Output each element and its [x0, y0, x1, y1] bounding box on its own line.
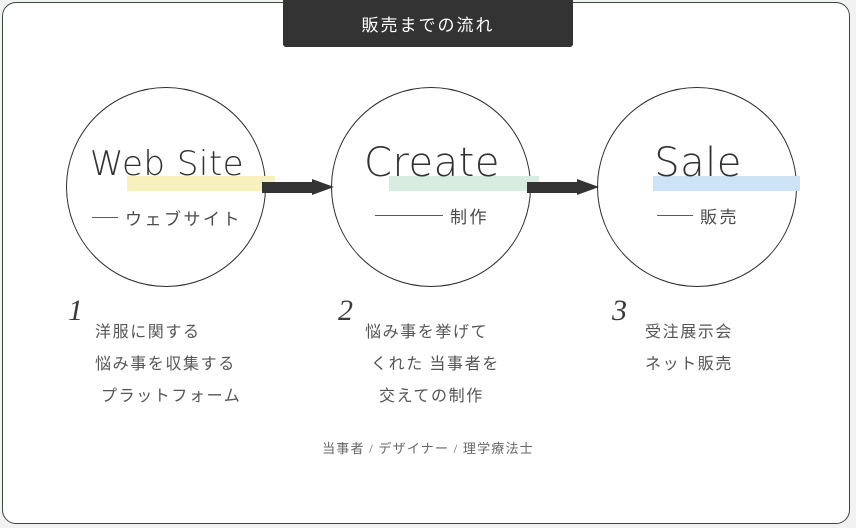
step-circle-create-content: Create 制作 [332, 88, 532, 288]
step-subtitle-row-create: 制作 [332, 203, 532, 228]
step-text-line: プラットフォーム [95, 381, 295, 413]
arrow-right-icon [262, 179, 334, 195]
step-number-3: 3 [612, 296, 627, 326]
footer-roles-text: 当事者 / デザイナー / 理学療法士 [322, 441, 534, 456]
step-circle-sale: Sale 販売 [597, 87, 797, 287]
step-text-line: 悩み事を収集する [95, 349, 295, 381]
dash-line-icon [657, 215, 693, 216]
step-text-lines-3: 受注展示会 ネット販売 [639, 317, 839, 381]
step-subtitle-row-sale: 販売 [598, 203, 798, 228]
step-text-lines-2: 悩み事を挙げて くれた 当事者を 交えての制作 [365, 317, 565, 413]
arrow-shaft [527, 182, 579, 193]
step-subtitle-sale: 販売 [700, 203, 739, 228]
step-circle-web-site: Web Site ウェブサイト [66, 87, 266, 287]
arrow-right-icon [527, 179, 599, 195]
step-subtitle-create: 制作 [450, 203, 489, 228]
step-circle-web-site-content: Web Site ウェブサイト [67, 88, 267, 288]
step-text-line: 洋服に関する [95, 317, 295, 349]
step-text-line: くれた 当事者を [365, 349, 565, 381]
step-text-line: 受注展示会 [639, 317, 839, 349]
step-circle-create: Create 制作 [331, 87, 531, 287]
step-subtitle-web-site: ウェブサイト [125, 205, 242, 230]
dash-line-icon [375, 215, 443, 216]
arrow-shaft [262, 182, 314, 193]
step-title-web-site: Web Site [67, 144, 267, 184]
dash-line-icon [92, 217, 118, 218]
step-number-1: 1 [68, 296, 83, 326]
footer: 当事者 / デザイナー / 理学療法士 [0, 438, 856, 458]
step-subtitle-row-web-site: ウェブサイト [67, 205, 267, 230]
step-text-line: 悩み事を挙げて [365, 317, 565, 349]
arrow-head [312, 179, 334, 195]
step-title-create: Create [332, 140, 532, 186]
flow-diagram-page: 販売までの流れ Web Site ウェブサイト Create 制作 Sale [0, 0, 856, 528]
step-title-sale: Sale [598, 140, 798, 186]
section-title-banner: 販売までの流れ [283, 0, 573, 47]
arrow-head [577, 179, 599, 195]
step-text-lines-1: 洋服に関する 悩み事を収集する プラットフォーム [95, 317, 295, 413]
step-number-2: 2 [338, 296, 353, 326]
section-title-text: 販売までの流れ [362, 11, 495, 36]
step-text-line: 交えての制作 [365, 381, 565, 413]
step-circle-sale-content: Sale 販売 [598, 88, 798, 288]
step-text-line: ネット販売 [639, 349, 839, 381]
